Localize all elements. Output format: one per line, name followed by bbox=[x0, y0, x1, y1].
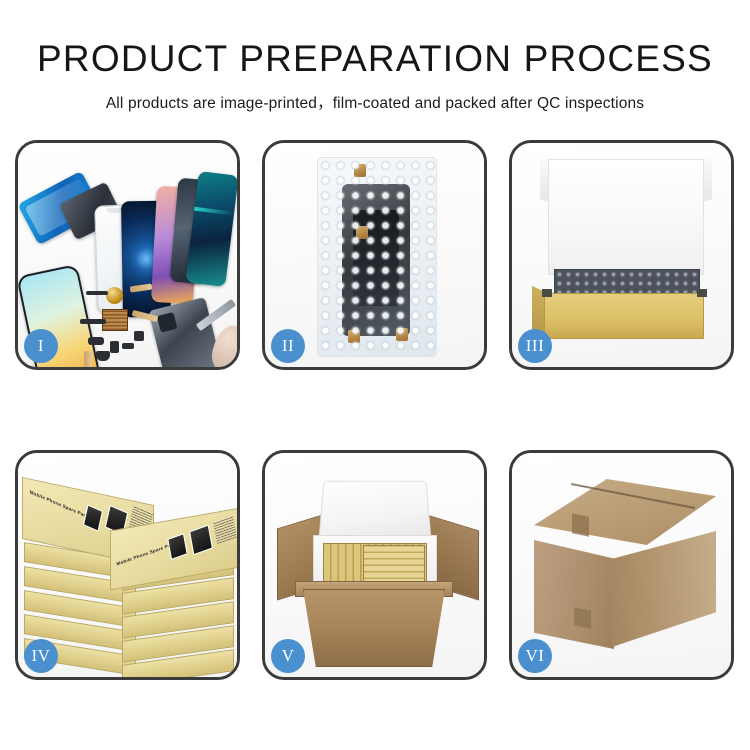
phone-rear-plate bbox=[148, 297, 221, 370]
process-step-4: Mobile Phone Spare Parts Mobile Phone Sp… bbox=[15, 450, 240, 680]
bubble-texture bbox=[318, 158, 436, 356]
step-4-badge: IV bbox=[24, 639, 58, 673]
step-3-badge: III bbox=[518, 329, 552, 363]
small-part-camera bbox=[110, 341, 119, 353]
carton-body bbox=[303, 589, 445, 667]
small-part-speaker bbox=[88, 337, 104, 345]
box-label-textlines-front bbox=[213, 516, 237, 544]
process-step-3: III bbox=[509, 140, 734, 370]
process-step-1: I bbox=[15, 140, 240, 370]
small-part-bracket bbox=[122, 343, 134, 349]
process-step-grid: I II bbox=[15, 140, 735, 680]
small-part-button bbox=[134, 331, 144, 341]
carton-right-face bbox=[612, 531, 716, 647]
process-step-2: II bbox=[262, 140, 487, 370]
box-label-rear: Mobile Phone Spare Parts bbox=[29, 489, 90, 519]
box-lid-face bbox=[550, 195, 702, 269]
process-step-6: VI bbox=[509, 450, 734, 680]
carton-left-face bbox=[534, 533, 614, 649]
gold-coil-chip bbox=[106, 287, 123, 304]
carton-tape-bottom bbox=[574, 607, 591, 629]
box-label-screen-front-1 bbox=[167, 533, 188, 560]
box-label-screen-rear-1 bbox=[83, 504, 103, 531]
box-front-wall bbox=[544, 293, 704, 339]
page-title: PRODUCT PREPARATION PROCESS bbox=[0, 40, 750, 79]
step-6-badge: VI bbox=[518, 639, 552, 673]
process-step-5: V bbox=[262, 450, 487, 680]
small-part-strip-2 bbox=[80, 319, 106, 324]
page-header: PRODUCT PREPARATION PROCESS All products… bbox=[0, 0, 750, 113]
step-1-badge: I bbox=[24, 329, 58, 363]
bubble-wrap-bag bbox=[317, 157, 437, 357]
foam-box-lid bbox=[318, 481, 431, 542]
flex-cable-3 bbox=[84, 351, 92, 367]
box-edge-right bbox=[697, 289, 707, 297]
small-part-vibrator bbox=[96, 351, 110, 361]
box-edge-left bbox=[542, 289, 552, 297]
carton-tape-top bbox=[572, 513, 589, 537]
step-2-badge: II bbox=[271, 329, 305, 363]
carton-top-face bbox=[534, 479, 716, 545]
box-label-screen-front-2 bbox=[189, 525, 213, 556]
packed-retail-boxes-block bbox=[363, 545, 425, 585]
step-5-badge: V bbox=[271, 639, 305, 673]
page-subtitle: All products are image-printed，film-coat… bbox=[0, 91, 750, 113]
small-part-strip-1 bbox=[86, 291, 108, 295]
